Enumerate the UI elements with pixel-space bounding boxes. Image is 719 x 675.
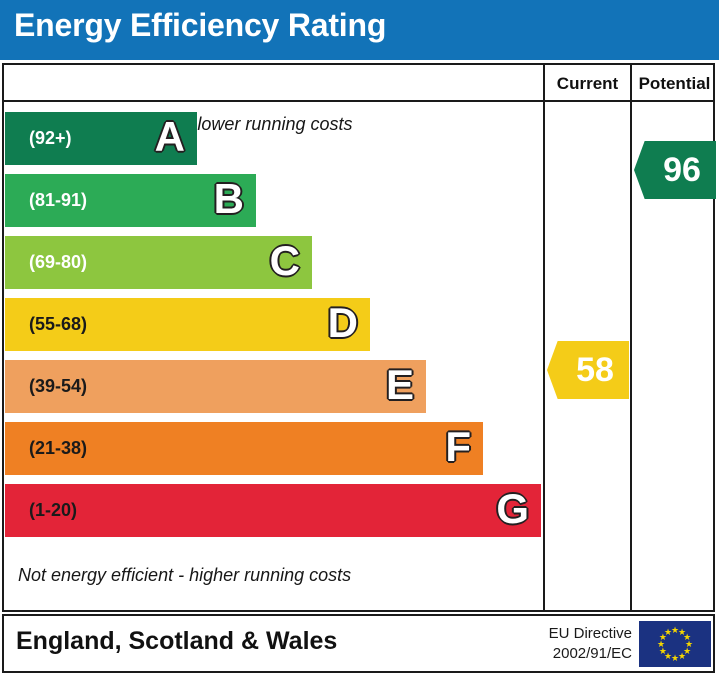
eu-flag-star: ★ bbox=[664, 628, 672, 636]
band-letter-g: G bbox=[496, 484, 529, 537]
band-g: (1-20)G bbox=[5, 484, 541, 537]
directive-line-1: EU Directive bbox=[522, 624, 632, 644]
band-c: (69-80)C bbox=[5, 236, 312, 289]
band-letter-f: F bbox=[445, 422, 471, 475]
potential-rating-badge: 96 bbox=[634, 141, 716, 199]
band-range-d: (55-68) bbox=[29, 298, 87, 351]
band-a: (92+)A bbox=[5, 112, 197, 165]
potential-column-divider bbox=[630, 65, 632, 610]
band-range-e: (39-54) bbox=[29, 360, 87, 413]
caption-inefficient: Not energy efficient - higher running co… bbox=[18, 565, 351, 586]
energy-efficiency-certificate: Energy Efficiency Rating Current Potenti… bbox=[0, 0, 719, 675]
column-header-current: Current bbox=[545, 71, 630, 97]
eu-flag-star: ★ bbox=[671, 654, 679, 662]
band-letter-d: D bbox=[328, 298, 358, 351]
current-rating-badge: 58 bbox=[547, 341, 629, 399]
rating-table: Current Potential Very energy efficient … bbox=[2, 63, 715, 612]
footer-region-label: England, Scotland & Wales bbox=[16, 627, 337, 656]
band-f: (21-38)F bbox=[5, 422, 483, 475]
directive-line-2: 2002/91/EC bbox=[522, 644, 632, 664]
band-letter-a: A bbox=[155, 112, 185, 165]
title-bar: Energy Efficiency Rating bbox=[0, 0, 719, 60]
band-d: (55-68)D bbox=[5, 298, 370, 351]
band-range-g: (1-20) bbox=[29, 484, 77, 537]
band-range-f: (21-38) bbox=[29, 422, 87, 475]
band-e: (39-54)E bbox=[5, 360, 426, 413]
band-range-a: (92+) bbox=[29, 112, 72, 165]
band-range-c: (69-80) bbox=[29, 236, 87, 289]
page-title: Energy Efficiency Rating bbox=[14, 7, 386, 44]
column-header-potential: Potential bbox=[632, 71, 717, 97]
footer: England, Scotland & Wales EU Directive 2… bbox=[2, 614, 715, 673]
band-chart: Very energy efficient - lower running co… bbox=[4, 102, 543, 612]
band-range-b: (81-91) bbox=[29, 174, 87, 227]
band-letter-b: B bbox=[214, 174, 244, 227]
footer-directive: EU Directive 2002/91/EC bbox=[522, 624, 632, 664]
eu-flag-icon: ★★★★★★★★★★★★ bbox=[639, 621, 711, 667]
eu-flag-star: ★ bbox=[678, 652, 686, 660]
current-column-divider bbox=[543, 65, 545, 610]
band-b: (81-91)B bbox=[5, 174, 256, 227]
band-letter-e: E bbox=[386, 360, 414, 413]
band-letter-c: C bbox=[270, 236, 300, 289]
